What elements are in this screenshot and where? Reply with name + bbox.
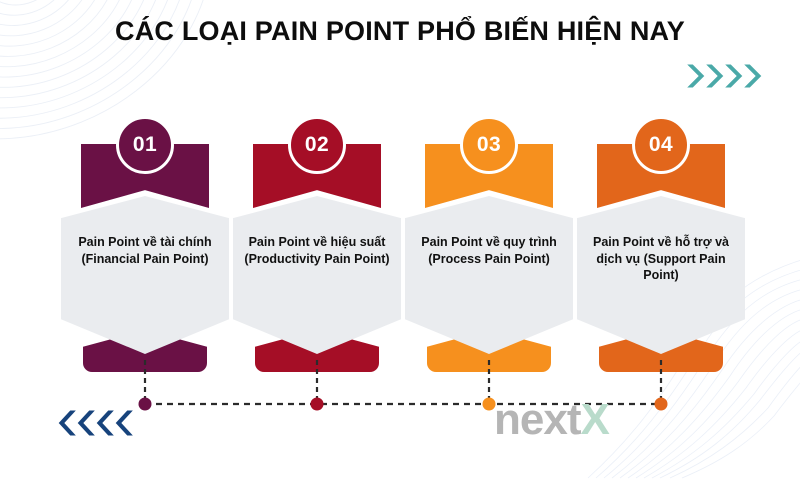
card-02-body: Pain Point về hiệu suất (Productivity Pa… xyxy=(233,196,401,354)
timeline-dot-1[interactable] xyxy=(139,398,152,411)
card-03-body: Pain Point về quy trình (Process Pain Po… xyxy=(405,196,573,354)
card-01-label: Pain Point về tài chính (Financial Pain … xyxy=(71,234,219,267)
infographic-canvas: CÁC LOẠI PAIN POINT PHỔ BIẾN HIỆN NAY Pa… xyxy=(0,0,800,450)
card-01-number-badge: 01 xyxy=(116,116,174,174)
card-03-number-badge: 03 xyxy=(460,116,518,174)
card-04[interactable]: Pain Point về hỗ trợ và dịch vụ (Support… xyxy=(577,118,745,368)
logo-text-next: next xyxy=(494,395,580,444)
chevron-right-group-icon xyxy=(684,62,768,90)
card-02-label: Pain Point về hiệu suất (Productivity Pa… xyxy=(243,234,391,267)
nextx-logo: nextX xyxy=(494,398,609,442)
card-03[interactable]: Pain Point về quy trình (Process Pain Po… xyxy=(405,118,573,368)
card-02-number-badge: 02 xyxy=(288,116,346,174)
page-title: CÁC LOẠI PAIN POINT PHỔ BIẾN HIỆN NAY xyxy=(0,16,800,47)
timeline-dot-4[interactable] xyxy=(655,398,668,411)
card-01[interactable]: Pain Point về tài chính (Financial Pain … xyxy=(61,118,229,368)
card-02[interactable]: Pain Point về hiệu suất (Productivity Pa… xyxy=(233,118,401,368)
timeline-dot-2[interactable] xyxy=(311,398,324,411)
card-04-label: Pain Point về hỗ trợ và dịch vụ (Support… xyxy=(587,234,735,284)
logo-text-x: X xyxy=(580,395,608,444)
card-04-number-badge: 04 xyxy=(632,116,690,174)
chevron-left-group-icon xyxy=(52,408,136,438)
card-04-body: Pain Point về hỗ trợ và dịch vụ (Support… xyxy=(577,196,745,354)
card-01-body: Pain Point về tài chính (Financial Pain … xyxy=(61,196,229,354)
card-03-label: Pain Point về quy trình (Process Pain Po… xyxy=(415,234,563,267)
